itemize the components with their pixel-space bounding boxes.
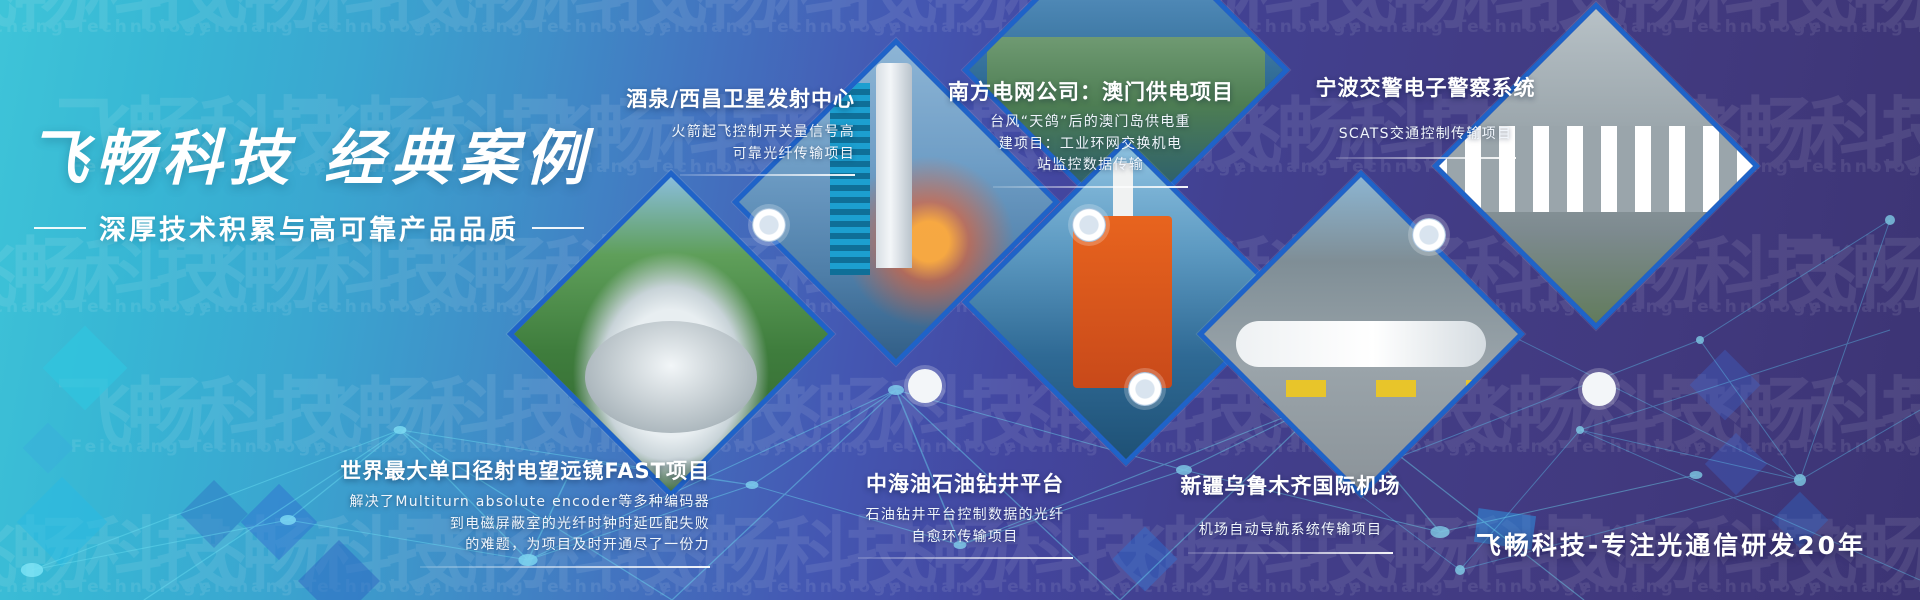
watermark-logo: 飞畅科技Feichang Technology — [0, 520, 228, 595]
callout-desc: 机场自动导航系统传输项目 — [1148, 520, 1433, 542]
decor-square — [1690, 350, 1761, 421]
decor-square — [17, 477, 108, 568]
callout-underline — [1188, 552, 1393, 554]
case-diamond-urumqi-airport[interactable] — [1197, 170, 1525, 498]
callout-ningbo-traffic-police[interactable]: 宁波交警电子警察系统 SCATS交通控制传输项目 — [1288, 72, 1563, 159]
decor-square — [23, 423, 74, 474]
watermark-logo: 飞畅科技Feichang Technology — [0, 0, 228, 35]
case-diamond-ningbo-traffic-police[interactable] — [1432, 2, 1760, 330]
watermark-logo: 飞畅科技Feichang Technology — [1665, 380, 1920, 455]
callout-desc: 解决了Multiturn absolute encoder等多种编码器 到电磁屏… — [290, 492, 710, 557]
callout-title: 世界最大单口径射电望远镜FAST项目 — [290, 455, 710, 485]
footer-tagline: 飞畅科技-专注光通信研发20年 — [1476, 526, 1866, 562]
watermark-logo: 飞畅科技Feichang Technology — [170, 240, 458, 315]
callout-fast-telescope[interactable]: 世界最大单口径射电望远镜FAST项目 解决了Multiturn absolute… — [290, 455, 710, 568]
callout-southern-power-grid[interactable]: 南方电网公司：澳门供电项目 台风“天鸽”后的澳门岛供电重 建项目：工业环网交换机… — [948, 76, 1233, 188]
watermark-logo: 飞畅科技Feichang Technology — [1320, 0, 1608, 35]
callout-title: 新疆乌鲁木齐国际机场 — [1148, 470, 1433, 500]
page-subtitle: 深厚技术积累与高可靠产品品质 — [99, 208, 519, 247]
traffic-intersection-photo — [1432, 2, 1760, 330]
watermark-logo: 飞畅科技Feichang Technology — [170, 0, 458, 35]
connector-dot-jiuquan — [752, 208, 786, 242]
subtitle-rule-left — [34, 227, 86, 229]
watermark-logo: 飞畅科技Feichang Technology — [1895, 380, 1920, 455]
subtitle-row: 深厚技术积累与高可靠产品品质 — [28, 208, 668, 247]
watermark-logo: 飞畅科技Feichang Technology — [1780, 240, 1920, 315]
watermark-logo: 飞畅科技Feichang Technology — [1435, 380, 1723, 455]
callout-cnooc-oil-platform[interactable]: 中海油石油钻井平台 石油钻井平台控制数据的光纤 自愈环传输项目 — [820, 468, 1110, 559]
callout-underline — [680, 174, 855, 176]
callout-desc: 火箭起飞控制开关量信号高 可靠光纤传输项目 — [610, 122, 855, 165]
connector-dot-fast — [908, 369, 942, 403]
watermark-logo: 飞畅科技Feichang Technology — [55, 380, 343, 455]
decor-square — [43, 326, 128, 411]
subtitle-rule-right — [532, 227, 584, 229]
headline-block: 飞畅科技 经典案例 深厚技术积累与高可靠产品品质 — [28, 128, 668, 247]
callout-underline — [1336, 157, 1516, 159]
callout-desc: 石油钻井平台控制数据的光纤 自愈环传输项目 — [820, 505, 1110, 548]
watermark-logo: 飞畅科技Feichang Technology — [285, 380, 573, 455]
watermark-logo: 飞畅科技Feichang Technology — [1895, 100, 1920, 175]
connector-dot-ningbo — [1412, 218, 1446, 252]
connector-dot-urumqi — [1582, 372, 1616, 406]
watermark-logo: 飞畅科技Feichang Technology — [0, 240, 228, 315]
callout-title: 南方电网公司：澳门供电项目 — [948, 76, 1233, 106]
connector-dot-southern-power-grid — [1072, 208, 1106, 242]
callout-jiuquan-xichang[interactable]: 酒泉/西昌卫星发射中心 火箭起飞控制开关量信号高 可靠光纤传输项目 — [610, 83, 855, 176]
marketing-banner: 飞畅科技Feichang Technology飞畅科技Feichang Tech… — [0, 0, 1920, 600]
callout-desc: SCATS交通控制传输项目 — [1288, 124, 1563, 146]
callout-underline — [993, 186, 1188, 188]
watermark-logo: 飞畅科技Feichang Technology — [630, 0, 918, 35]
callout-desc: 台风“天鸽”后的澳门岛供电重 建项目：工业环网交换机电 站监控数据传输 — [948, 112, 1233, 177]
callout-title: 酒泉/西昌卫星发射中心 — [610, 83, 855, 113]
decor-square — [180, 480, 248, 548]
callout-underline — [420, 566, 710, 568]
connector-dot-cnooc — [1128, 372, 1162, 406]
watermark-logo: 飞畅科技Feichang Technology — [745, 380, 1033, 455]
callout-urumqi-airport[interactable]: 新疆乌鲁木齐国际机场 机场自动导航系统传输项目 — [1148, 470, 1433, 554]
airport-runway-photo — [1197, 170, 1525, 498]
decor-square — [1705, 433, 1767, 495]
callout-underline — [858, 557, 1073, 559]
page-title: 飞畅科技 经典案例 — [28, 128, 668, 191]
watermark-logo: 飞畅科技Feichang Technology — [1780, 0, 1920, 35]
watermark-logo: 飞畅科技Feichang Technology — [400, 0, 688, 35]
callout-title: 中海油石油钻井平台 — [820, 468, 1110, 498]
callout-title: 宁波交警电子警察系统 — [1288, 72, 1563, 102]
